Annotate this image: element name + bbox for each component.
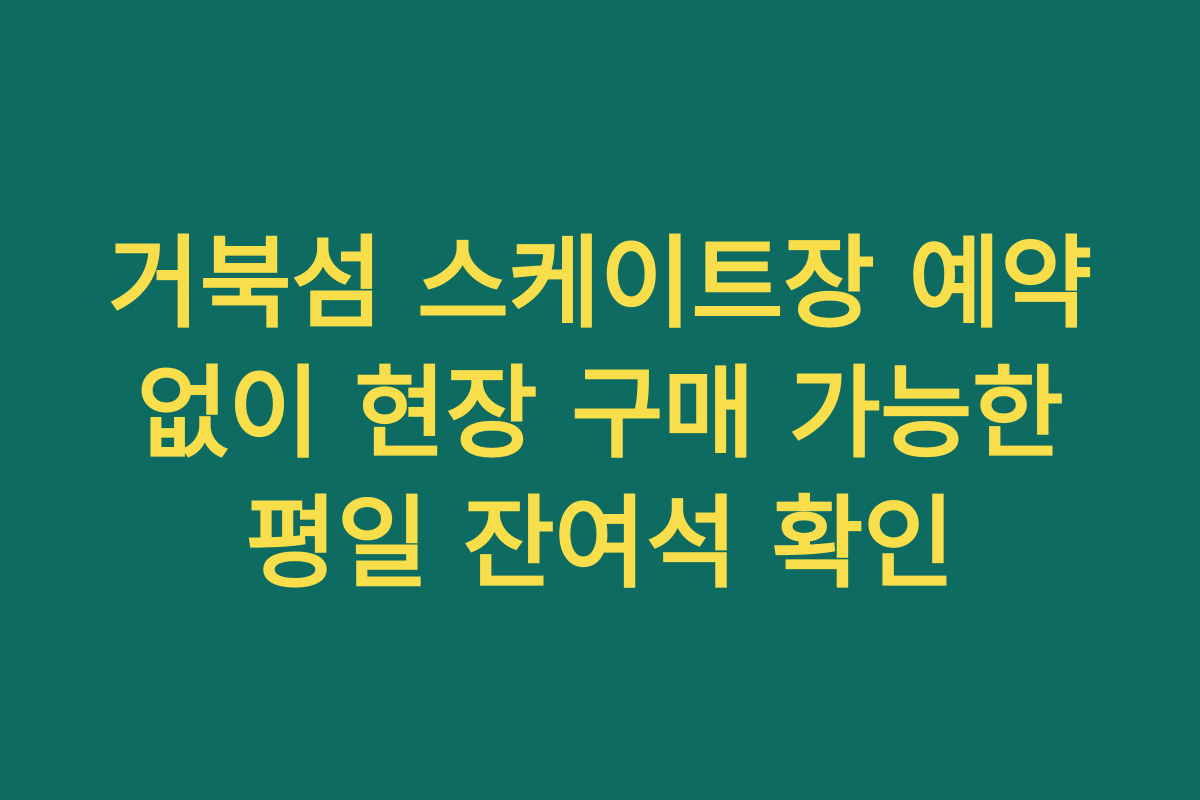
- headline-line-2: 없이 현장 구매 가능한: [50, 349, 1150, 479]
- headline-line-1: 거북섬 스케이트장 예약: [50, 219, 1150, 349]
- headline-line-3: 평일 잔여석 확인: [50, 479, 1150, 609]
- banner-canvas: 거북섬 스케이트장 예약 없이 현장 구매 가능한 평일 잔여석 확인: [0, 0, 1200, 800]
- headline-text-block: 거북섬 스케이트장 예약 없이 현장 구매 가능한 평일 잔여석 확인: [50, 219, 1150, 609]
